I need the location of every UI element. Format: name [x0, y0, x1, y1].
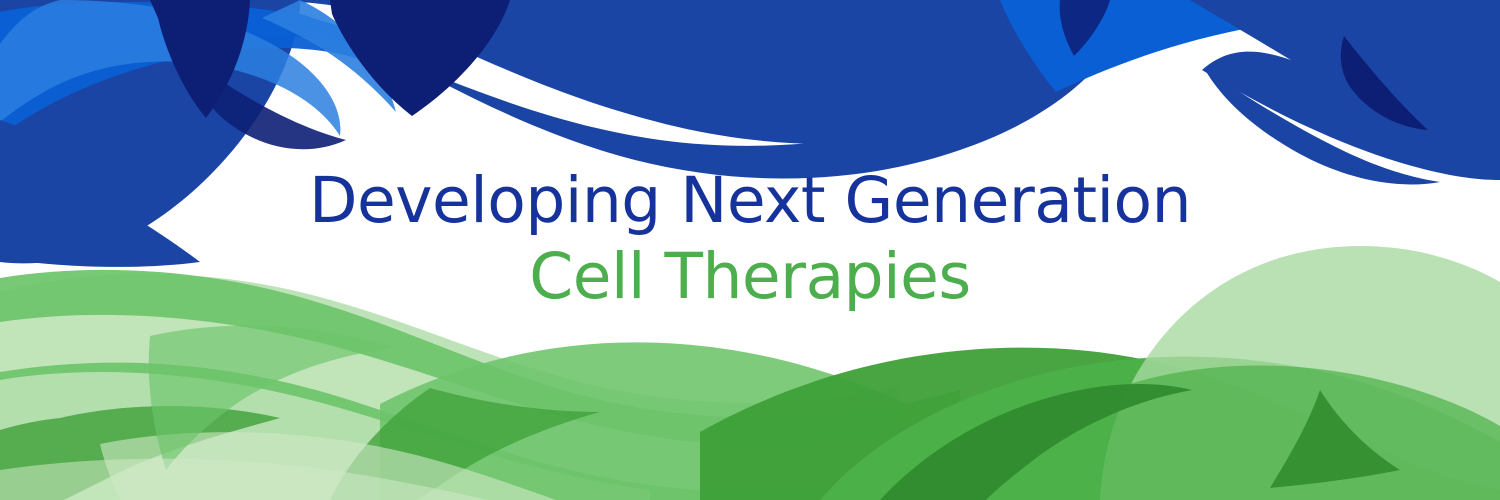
decorative-wave-artwork: [0, 0, 1500, 500]
blue-wave-band: [0, 0, 1500, 267]
green-wave-band: [0, 246, 1500, 500]
hero-banner: Developing Next Generation Cell Therapie…: [0, 0, 1500, 500]
